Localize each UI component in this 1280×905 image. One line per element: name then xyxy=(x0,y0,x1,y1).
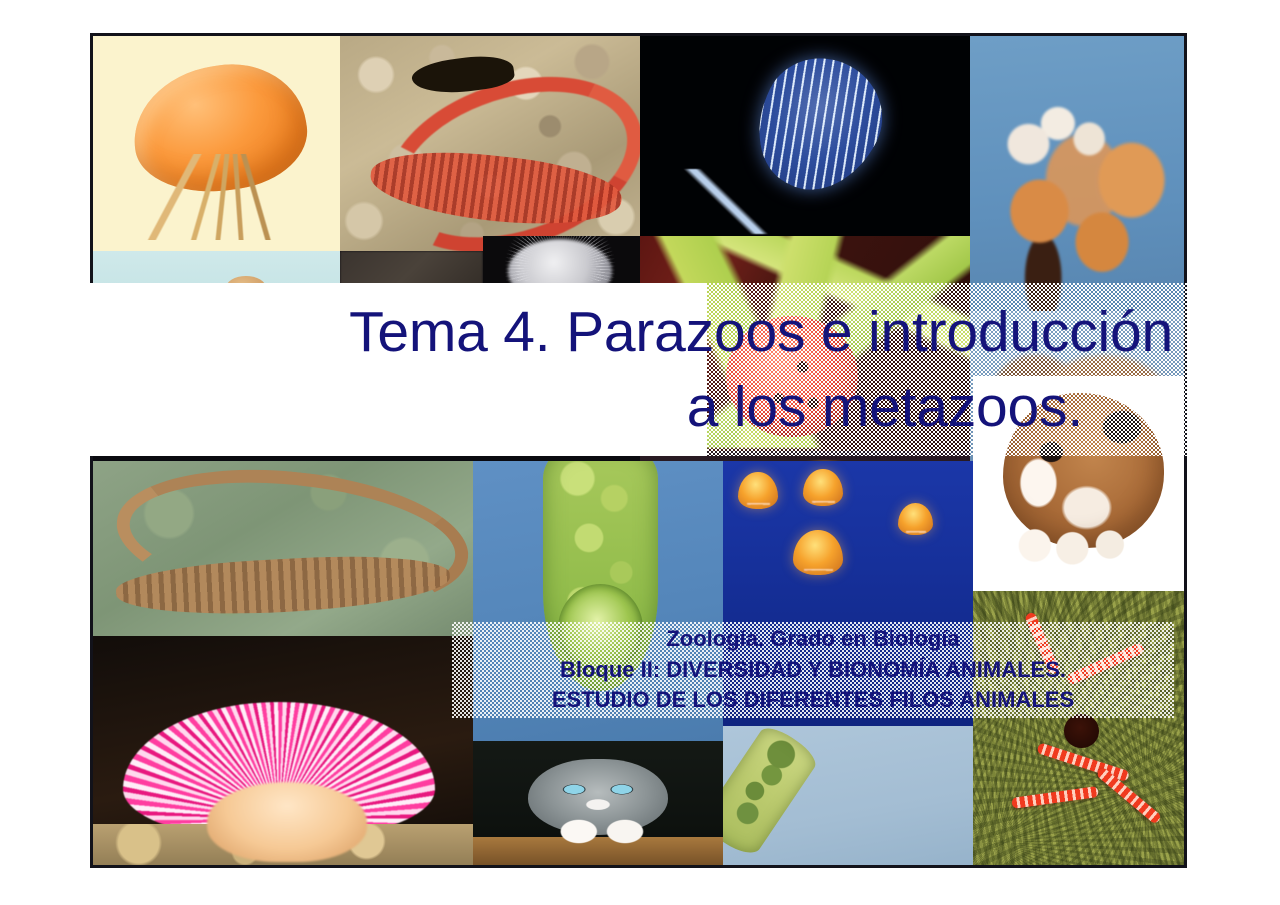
collage-tile-mite xyxy=(93,36,340,251)
collage-tile-ctenophore xyxy=(640,36,970,251)
title-placeholder[interactable]: Tema 4. Parazoos e introducción a los me… xyxy=(90,283,1187,456)
jellyfish-shape xyxy=(803,469,843,506)
presentation-slide: Tema 4. Parazoos e introducción a los me… xyxy=(0,0,1280,905)
collage-tile-centipede xyxy=(93,461,473,636)
subtitle-line-1: Zoología. Grado en Biología xyxy=(666,624,959,655)
title-line-2: a los metazoos. xyxy=(687,370,1173,444)
jellyfish-shape xyxy=(793,530,843,575)
kitten-paws-shape xyxy=(548,819,658,845)
collage-tile-polychaete xyxy=(340,36,640,251)
subtitle-line-2: Bloque II: DIVERSIDAD Y BIONOMÍA ANIMALE… xyxy=(560,655,1066,686)
subtitle-placeholder[interactable]: Zoología. Grado en Biología Bloque II: D… xyxy=(452,622,1174,718)
rock-crevice-shape xyxy=(410,51,516,99)
orange-mite-photo xyxy=(93,36,340,251)
collage-tile-anemone xyxy=(93,636,473,868)
grey-kitten-photo xyxy=(473,741,723,868)
pink-sea-anemone-photo xyxy=(93,636,473,868)
collage-tile-kitten xyxy=(473,741,723,868)
jellyfish-shape xyxy=(738,472,778,509)
sand-substrate-shape xyxy=(93,824,473,868)
blue-ctenophore-photo xyxy=(640,36,970,251)
subtitle-line-3: ESTUDIO DE LOS DIFERENTES FILOS ANIMALES xyxy=(552,685,1074,716)
page-title: Tema 4. Parazoos e introducción a los me… xyxy=(90,283,1187,456)
green-microorganism-photo xyxy=(723,726,973,868)
brittle-star-disc-shape xyxy=(1064,714,1099,748)
red-polychaete-worm-photo xyxy=(340,36,640,251)
collage-tile-microorganism xyxy=(723,726,973,868)
title-line-1: Tema 4. Parazoos e introducción xyxy=(349,295,1173,369)
jellyfish-shape xyxy=(898,503,933,535)
subtitle: Zoología. Grado en Biología Bloque II: D… xyxy=(452,622,1174,718)
centipede-on-moss-photo xyxy=(93,461,473,636)
